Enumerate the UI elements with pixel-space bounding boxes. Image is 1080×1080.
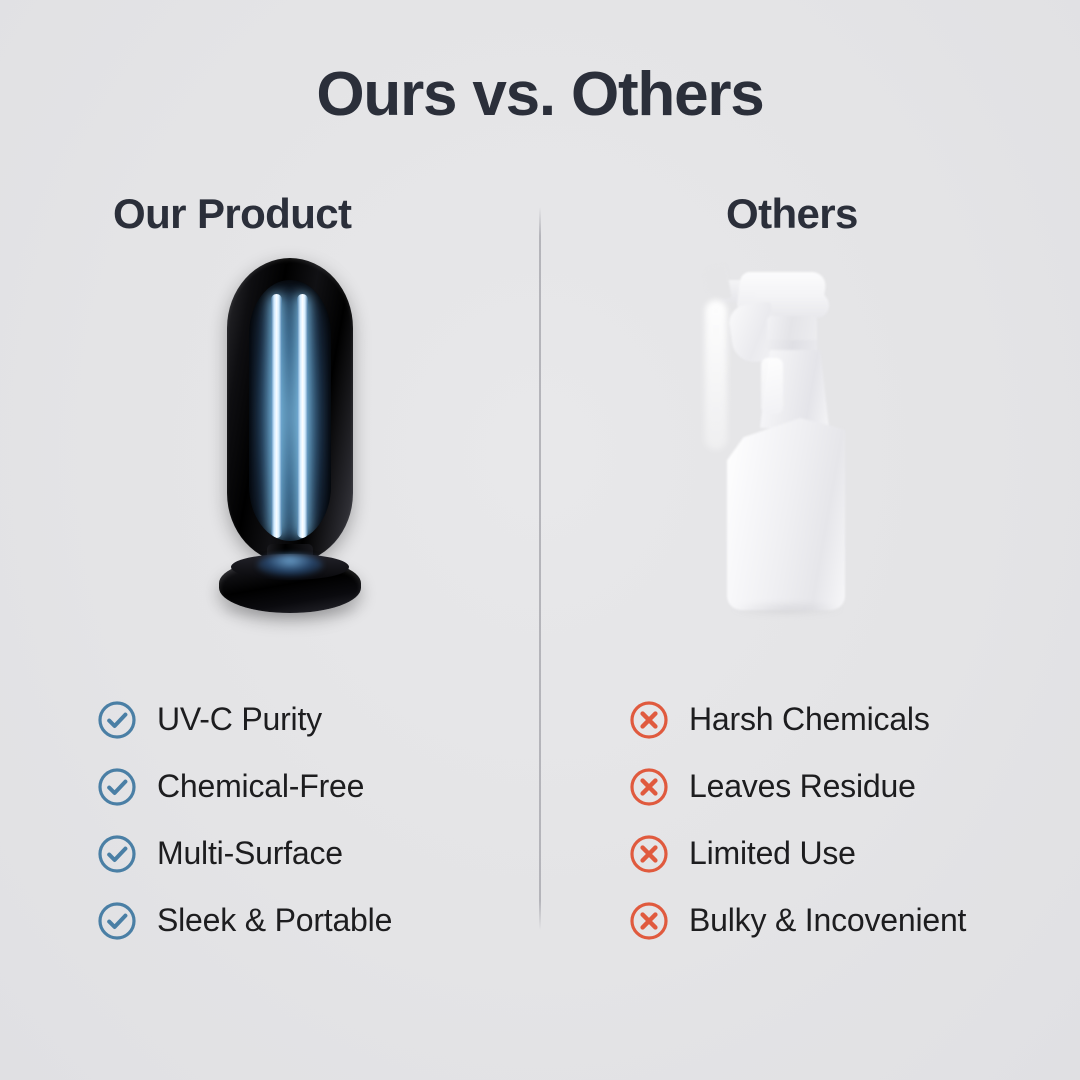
list-item-label: Sleek & Portable bbox=[157, 902, 392, 939]
list-item-label: Leaves Residue bbox=[689, 768, 916, 805]
list-item: Limited Use bbox=[628, 820, 966, 887]
list-item: Leaves Residue bbox=[628, 753, 966, 820]
bottle-grip-highlight bbox=[761, 358, 783, 414]
x-circle-icon bbox=[628, 699, 670, 741]
list-item: UV-C Purity bbox=[96, 686, 392, 753]
x-circle-icon bbox=[628, 833, 670, 875]
lamp-inner-cavity bbox=[249, 280, 331, 541]
list-item: Multi-Surface bbox=[96, 820, 392, 887]
spray-bottle-icon bbox=[705, 266, 875, 618]
our-product-image-stage bbox=[100, 258, 480, 628]
check-circle-icon bbox=[96, 900, 138, 942]
list-item-label: Harsh Chemicals bbox=[689, 701, 930, 738]
bottle-drop-shadow bbox=[731, 602, 843, 616]
list-item: Chemical-Free bbox=[96, 753, 392, 820]
page-title: Ours vs. Others bbox=[0, 62, 1080, 127]
column-heading-our-product: Our Product bbox=[113, 190, 351, 238]
our-product-feature-list: UV-C Purity Chemical-Free Multi-Surface bbox=[96, 686, 392, 954]
list-item-label: Bulky & Incovenient bbox=[689, 902, 966, 939]
others-feature-list: Harsh Chemicals Leaves Residue Limited U… bbox=[628, 686, 966, 954]
bottle-body-highlight bbox=[705, 300, 727, 450]
list-item: Sleek & Portable bbox=[96, 887, 392, 954]
column-heading-others: Others bbox=[726, 190, 858, 238]
lamp-base-glow-reflection bbox=[257, 554, 323, 576]
check-circle-icon bbox=[96, 833, 138, 875]
list-item-label: Limited Use bbox=[689, 835, 856, 872]
comparison-infographic: Ours vs. Others Our Product Others bbox=[0, 0, 1080, 1080]
uv-tube-right bbox=[297, 294, 308, 538]
list-item-label: Chemical-Free bbox=[157, 768, 364, 805]
check-circle-icon bbox=[96, 699, 138, 741]
x-circle-icon bbox=[628, 766, 670, 808]
list-item-label: UV-C Purity bbox=[157, 701, 322, 738]
lamp-uv-glow bbox=[252, 292, 328, 540]
bottle-body bbox=[727, 418, 845, 610]
list-item: Harsh Chemicals bbox=[628, 686, 966, 753]
list-item: Bulky & Incovenient bbox=[628, 887, 966, 954]
bottle-trigger-gap bbox=[702, 264, 732, 302]
uv-c-sanitizer-lamp-icon bbox=[205, 258, 375, 618]
others-product-image-stage bbox=[600, 258, 980, 628]
uv-tube-left bbox=[271, 294, 282, 538]
x-circle-icon bbox=[628, 900, 670, 942]
list-item-label: Multi-Surface bbox=[157, 835, 343, 872]
check-circle-icon bbox=[96, 766, 138, 808]
column-divider bbox=[539, 207, 541, 930]
